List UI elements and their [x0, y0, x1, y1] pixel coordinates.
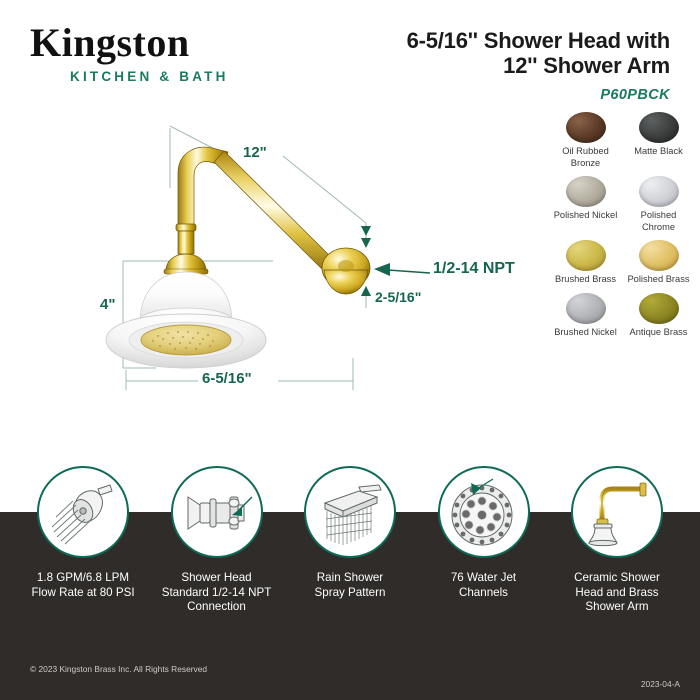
water-jet-channels-icon [438, 466, 530, 558]
revision-code: 2023-04-A [641, 679, 680, 689]
finish-label: Brushed Nickel [554, 327, 617, 339]
finish-swatch [566, 293, 606, 324]
finish-swatch [639, 176, 679, 207]
feature-line1: Shower Head [162, 571, 272, 586]
npt-arrow-head [374, 263, 390, 276]
callout-npt: 1/2-14 NPT [433, 260, 515, 278]
product-diagram: 12" 4" 6-5/16" 2-5/16" 1/2-14 NPT [78, 118, 548, 408]
feature-text: Ceramic Shower Head and Brass Shower Arm [574, 571, 660, 615]
finish-option[interactable]: Polished Chrome [625, 176, 692, 238]
product-title-line2: 12'' Shower Arm [340, 53, 670, 78]
feature-line3: Shower Arm [574, 600, 660, 615]
finish-label: Polished Brass [627, 274, 689, 286]
copyright-text: © 2023 Kingston Brass Inc. All Rights Re… [30, 664, 207, 674]
finish-swatch-grid: Oil Rubbed Bronze Matte Black Polished N… [552, 112, 692, 343]
footer: © 2023 Kingston Brass Inc. All Rights Re… [0, 652, 700, 700]
spec-sheet: Kingston KITCHEN & BATH 6-5/16'' Shower … [0, 0, 700, 700]
npt-callout-arrow [388, 270, 430, 273]
feature-line2: Channels [451, 586, 516, 601]
feature-line1: 76 Water Jet [451, 571, 516, 586]
feature-line1: 1.8 GPM/6.8 LPM [31, 571, 134, 586]
model-number: P60PBCK [340, 87, 670, 103]
finish-option[interactable]: Matte Black [625, 112, 692, 174]
finish-label: Oil Rubbed Bronze [552, 146, 619, 169]
finish-swatch [639, 293, 679, 324]
dim-flange-offset: 2-5/16" [375, 289, 421, 305]
feature-line2: Flow Rate at 80 PSI [31, 586, 134, 601]
feature-text: 76 Water Jet Channels [451, 571, 516, 600]
shower-head-spray-icon [37, 466, 129, 558]
feature-line2: Spray Pattern [315, 586, 386, 601]
feature-text: Rain Shower Spray Pattern [315, 571, 386, 600]
feature-text: 1.8 GPM/6.8 LPM Flow Rate at 80 PSI [31, 571, 134, 600]
finish-label: Polished Chrome [625, 210, 692, 233]
finish-option[interactable]: Brushed Nickel [552, 293, 619, 344]
feature-line2: Standard 1/2-14 NPT [162, 586, 272, 601]
finish-option[interactable]: Polished Brass [625, 240, 692, 291]
finish-option[interactable]: Polished Nickel [552, 176, 619, 238]
feature-line1: Ceramic Shower [574, 571, 660, 586]
dim-head-height: 4" [100, 296, 115, 313]
finish-swatch [566, 112, 606, 143]
shower-arm-brass [164, 147, 370, 294]
feature-item: 76 Water Jet Channels [423, 466, 545, 636]
brand-tagline: KITCHEN & BATH [70, 69, 330, 84]
finish-label: Brushed Brass [555, 274, 616, 286]
finish-option[interactable]: Brushed Brass [552, 240, 619, 291]
finish-label: Antique Brass [630, 327, 688, 339]
rain-shower-icon [304, 466, 396, 558]
finish-label: Matte Black [634, 146, 683, 158]
npt-connection-icon [171, 466, 263, 558]
finish-option[interactable]: Antique Brass [625, 293, 692, 344]
feature-item: Ceramic Shower Head and Brass Shower Arm [556, 466, 678, 636]
finish-swatch [639, 240, 679, 271]
feature-text: Shower Head Standard 1/2-14 NPT Connecti… [162, 571, 272, 615]
feature-line2: Head and Brass [574, 586, 660, 601]
product-title-block: 6-5/16'' Shower Head with 12'' Shower Ar… [340, 28, 670, 103]
brand-name: Kingston [30, 22, 330, 64]
feature-item: Rain Shower Spray Pattern [289, 466, 411, 636]
dim-head-width: 6-5/16" [202, 370, 252, 387]
finish-label: Polished Nickel [554, 210, 618, 222]
product-title-line1: 6-5/16'' Shower Head with [340, 28, 670, 53]
features-row: 1.8 GPM/6.8 LPM Flow Rate at 80 PSI [0, 466, 700, 636]
feature-item: 1.8 GPM/6.8 LPM Flow Rate at 80 PSI [22, 466, 144, 636]
inner-jet-cluster [461, 497, 500, 534]
finish-swatch [566, 176, 606, 207]
feature-line3: Connection [162, 600, 272, 615]
shower-head-ceramic [106, 272, 266, 368]
feature-item: Shower Head Standard 1/2-14 NPT Connecti… [156, 466, 278, 636]
arm-dim-arrow-head [361, 226, 371, 236]
feature-line1: Rain Shower [315, 571, 386, 586]
finish-swatch [639, 112, 679, 143]
finish-option[interactable]: Oil Rubbed Bronze [552, 112, 619, 174]
ceramic-head-brass-arm-icon [571, 466, 663, 558]
brand-logo: Kingston KITCHEN & BATH [30, 22, 330, 84]
finish-swatch [566, 240, 606, 271]
dim-arm-length: 12" [243, 144, 267, 161]
